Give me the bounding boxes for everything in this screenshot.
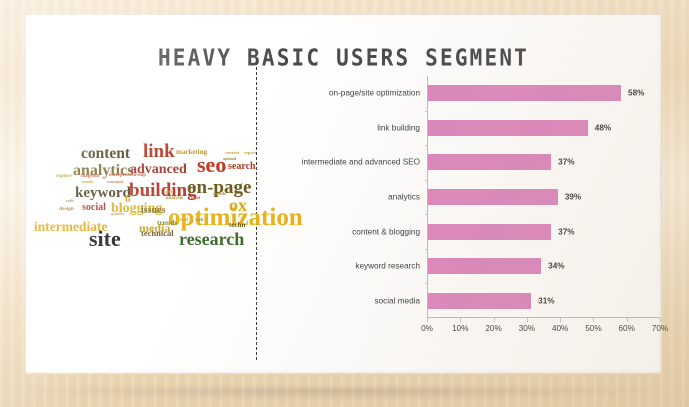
bar-value-label: 37% <box>558 227 574 236</box>
word-cloud-term: site <box>89 228 121 250</box>
x-axis-tick-label: 10% <box>452 324 468 333</box>
word-cloud-term: quality <box>111 212 125 217</box>
bar-value-label: 39% <box>565 192 581 201</box>
bar-category-label: intermediate and advanced SEO <box>302 158 420 167</box>
chart-plot-area: on-page/site optimization58%link buildin… <box>427 76 660 318</box>
word-cloud-term: search <box>228 162 256 172</box>
word-cloud-term: optimal <box>223 157 236 161</box>
word-cloud-term: web <box>195 218 204 223</box>
bar <box>428 258 541 274</box>
bar <box>428 189 558 205</box>
x-axis-tick-label: 70% <box>652 324 668 333</box>
word-cloud-term: local <box>191 196 200 201</box>
word-cloud-term: design <box>59 207 74 213</box>
bar <box>428 154 551 170</box>
word-cloud-term: issues <box>141 206 165 216</box>
frame-drop-shadow <box>10 388 679 400</box>
word-cloud-term: content <box>81 146 130 162</box>
x-axis-tick <box>427 318 428 322</box>
word-cloud-term: report <box>244 151 256 156</box>
horizontal-bar-chart: on-page/site optimization58%link buildin… <box>270 76 660 348</box>
bar-value-label: 34% <box>548 262 564 271</box>
word-cloud-term: keyword <box>75 186 131 201</box>
bar-category-label: on-page/site optimization <box>329 89 420 98</box>
word-cloud-term: onsite <box>82 180 93 185</box>
word-cloud-term: entrepreneurship <box>109 173 146 178</box>
word-cloud-term: tool <box>180 218 188 223</box>
x-axis-tick <box>627 318 628 322</box>
bar-category-label: analytics <box>388 192 420 201</box>
bar <box>428 85 621 101</box>
x-axis-tick <box>460 318 461 322</box>
x-axis-tick <box>593 318 594 322</box>
bar-value-label: 58% <box>628 89 644 98</box>
x-axis-tick-label: 50% <box>585 324 601 333</box>
bar-category-label: link building <box>377 123 420 132</box>
bar <box>428 120 588 136</box>
word-cloud-term: 6 <box>125 194 131 205</box>
bar-category-label: keyword research <box>355 262 420 271</box>
word-cloud-term: research <box>179 230 244 248</box>
bar-value-label: 31% <box>538 296 554 305</box>
x-axis-tick-label: 60% <box>619 324 635 333</box>
x-axis-tick <box>527 318 528 322</box>
x-axis-tick-label: 20% <box>485 324 501 333</box>
x-axis-tick <box>560 318 561 322</box>
bar-row: link building48% <box>428 111 660 146</box>
word-cloud-term: web <box>66 199 74 204</box>
x-axis-tick-label: 30% <box>519 324 535 333</box>
bar-row: social media31% <box>428 283 660 318</box>
x-axis-tick-label: 40% <box>552 324 568 333</box>
x-axis-tick-label: 0% <box>421 324 433 333</box>
x-axis-tick <box>660 318 661 322</box>
bar <box>428 224 551 240</box>
word-cloud-term: seo <box>197 154 226 176</box>
chart-x-axis: 0%10%20%30%40%50%60%70% <box>427 318 660 340</box>
word-cloud-term: media <box>139 222 170 234</box>
bar-row: content & blogging37% <box>428 214 660 249</box>
word-cloud-term: techn <box>229 222 245 229</box>
word-cloud-term: social <box>82 203 106 213</box>
bar-value-label: 48% <box>595 123 611 132</box>
word-cloud-term: content <box>225 151 239 156</box>
bar-category-label: content & blogging <box>352 227 420 236</box>
bar-category-label: social media <box>374 296 420 305</box>
x-axis-tick <box>494 318 495 322</box>
page-title: HEAVY BASIC USERS SEGMENT <box>25 44 662 71</box>
word-cloud-term: explore <box>56 174 72 179</box>
word-cloud-term: semantic <box>107 180 124 185</box>
bar-row: intermediate and advanced SEO37% <box>428 145 660 180</box>
word-cloud-term: pro <box>166 190 173 195</box>
seo-topics-word-cloud: contentanalyticslinkmarketingadvancedseo… <box>29 122 249 272</box>
word-cloud-term: mobile <box>213 192 226 197</box>
word-cloud-term: analysis <box>166 196 183 201</box>
bar-row: on-page/site optimization58% <box>428 76 660 111</box>
picture-frame: HEAVY BASIC USERS SEGMENT contentanalyti… <box>0 0 689 407</box>
bar-row: analytics39% <box>428 180 660 215</box>
word-cloud-term: link <box>143 142 175 161</box>
bar <box>428 293 531 309</box>
slide-canvas: HEAVY BASIC USERS SEGMENT contentanalyti… <box>25 14 662 374</box>
word-cloud-term: ox <box>229 196 247 214</box>
bar-value-label: 37% <box>558 158 574 167</box>
bar-row: keyword research34% <box>428 249 660 284</box>
